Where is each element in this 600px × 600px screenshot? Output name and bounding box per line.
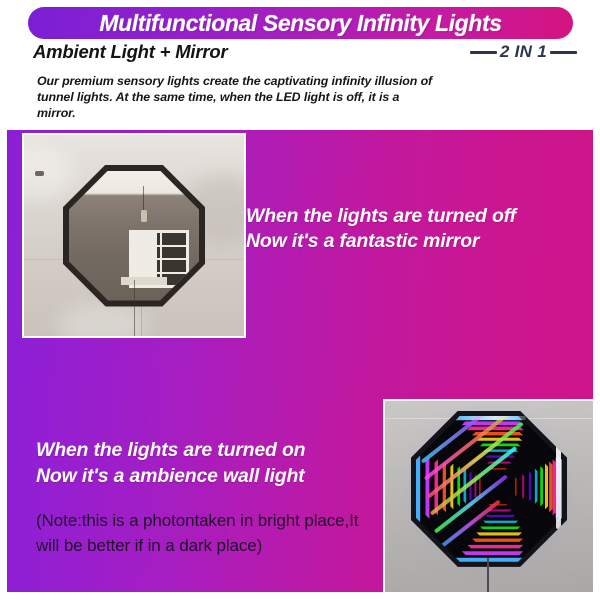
- lights-on-caption: When the lights are turned on Now it's a…: [36, 437, 396, 489]
- lights-on-caption-line1: When the lights are turned on: [36, 437, 396, 463]
- wall-texture-blotch: [24, 145, 72, 200]
- wall-hook: [35, 171, 44, 176]
- mirror-photo: [24, 135, 244, 336]
- reflected-lamp: [141, 210, 147, 222]
- fixture-rim-right: [556, 442, 561, 529]
- intro-paragraph: Our premium sensory lights create the ca…: [37, 74, 437, 121]
- subtitle: Ambient Light + Mirror: [33, 41, 227, 63]
- infinity-tunnel: [416, 416, 562, 562]
- window-pane: [162, 233, 186, 245]
- header-section: Multifunctional Sensory Infinity Lights …: [0, 0, 600, 130]
- product-marketing-image: Multifunctional Sensory Infinity Lights …: [0, 0, 600, 600]
- lights-off-caption: When the lights are turned off Now it's …: [246, 204, 586, 254]
- lights-off-caption-line1: When the lights are turned off: [246, 204, 586, 229]
- window-pane: [162, 260, 186, 272]
- infinity-light-photo: [385, 401, 593, 592]
- reflected-shelf: [121, 277, 167, 285]
- mirror-photo-frame: [22, 133, 246, 338]
- title-banner: Multifunctional Sensory Infinity Lights: [28, 7, 573, 39]
- lights-off-caption-line2: Now it's a fantastic mirror: [246, 229, 586, 254]
- photo-note: (Note:this is a photontaken in bright pl…: [36, 508, 366, 558]
- page-title: Multifunctional Sensory Infinity Lights: [99, 10, 501, 37]
- infinity-light-photo-frame: [383, 399, 593, 592]
- dash-left-icon: [470, 51, 497, 54]
- hanging-cord: [134, 280, 135, 336]
- window-pane: [157, 233, 160, 245]
- dash-right-icon: [550, 51, 577, 54]
- window-pane: [157, 247, 160, 259]
- octagon-infinity-light-icon: [411, 411, 567, 567]
- gradient-panel: When the lights are turned off Now it's …: [7, 130, 593, 592]
- window-pane: [157, 260, 160, 272]
- lights-on-caption-line2: Now it's a ambience wall light: [36, 463, 396, 489]
- fixture-rim-top: [458, 416, 527, 420]
- two-in-one-badge: 2 IN 1: [470, 42, 577, 62]
- window-pane: [162, 247, 186, 259]
- mounting-stand: [487, 558, 489, 592]
- two-in-one-badge-label: 2 IN 1: [500, 42, 547, 62]
